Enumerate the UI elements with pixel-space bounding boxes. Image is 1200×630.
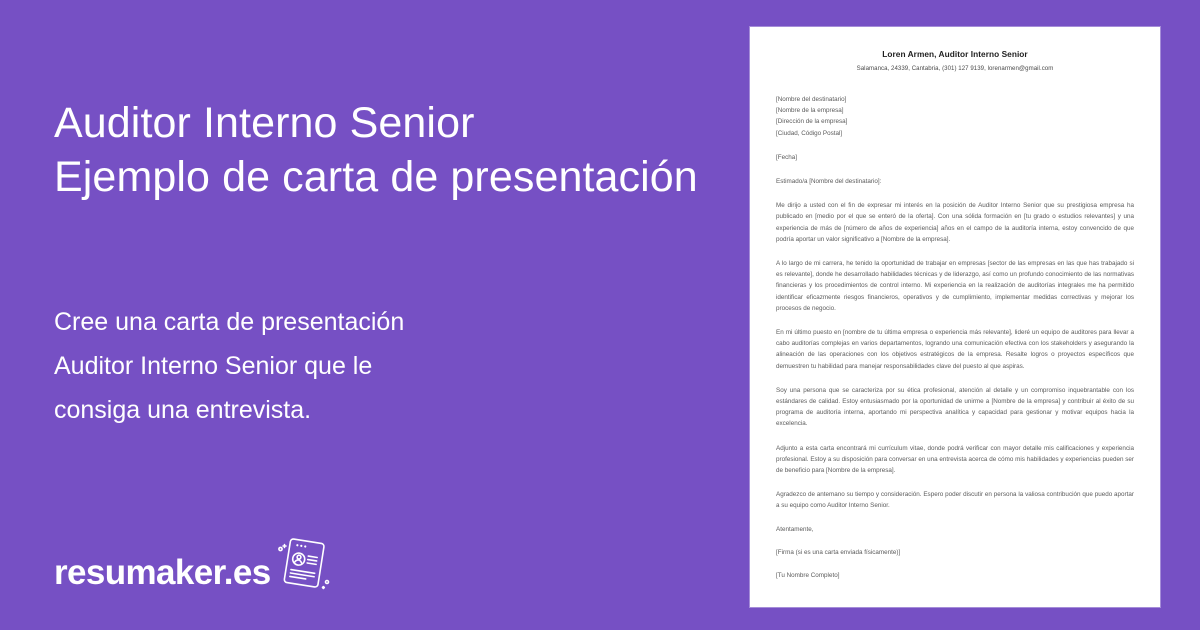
letter-paragraph: Agradezco de antemano su tiempo y consid…	[776, 489, 1134, 511]
letter-paragraph: En mi último puesto en [nombre de tu últ…	[776, 327, 1134, 372]
letter-recipient-block: [Nombre del destinatario] [Nombre de la …	[776, 94, 1134, 139]
promo-panel: Auditor Interno Senior Ejemplo de carta …	[0, 0, 730, 630]
page-title: Auditor Interno Senior Ejemplo de carta …	[54, 96, 698, 204]
letter-full-name: [Tu Nombre Completo]	[776, 570, 1134, 581]
letter-signature-note: [Firma (si es una carta enviada físicame…	[776, 547, 1134, 558]
letter-paragraph: Me dirijo a usted con el fin de expresar…	[776, 200, 1134, 245]
cover-letter-preview[interactable]: Loren Armen, Auditor Interno Senior Sala…	[750, 27, 1160, 607]
letter-recipient-line: [Ciudad, Código Postal]	[776, 128, 1134, 139]
letter-paragraph: Soy una persona que se caracteriza por s…	[776, 385, 1134, 430]
letter-salutation: Estimado/a [Nombre del destinatario]:	[776, 176, 1134, 187]
letter-recipient-line: [Nombre del destinatario]	[776, 94, 1134, 105]
resumaker-logo[interactable]: resumaker.es	[54, 530, 333, 592]
promo-subheading: Cree una carta de presentación Auditor I…	[54, 300, 484, 432]
letter-contact-line: Salamanca, 24339, Cantabria, (301) 127 9…	[776, 65, 1134, 72]
letter-recipient-line: [Nombre de la empresa]	[776, 105, 1134, 116]
letter-paragraph: Adjunto a esta carta encontrará mi currí…	[776, 443, 1134, 477]
logo-wordmark: resumaker.es	[54, 554, 271, 592]
letter-closing: Atentamente,	[776, 524, 1134, 535]
letter-date: [Fecha]	[776, 152, 1134, 163]
letter-sender-name: Loren Armen, Auditor Interno Senior	[776, 49, 1134, 59]
resume-document-icon	[275, 533, 333, 595]
letter-paragraph: A lo largo de mi carrera, he tenido la o…	[776, 258, 1134, 314]
letter-recipient-line: [Dirección de la empresa]	[776, 116, 1134, 127]
